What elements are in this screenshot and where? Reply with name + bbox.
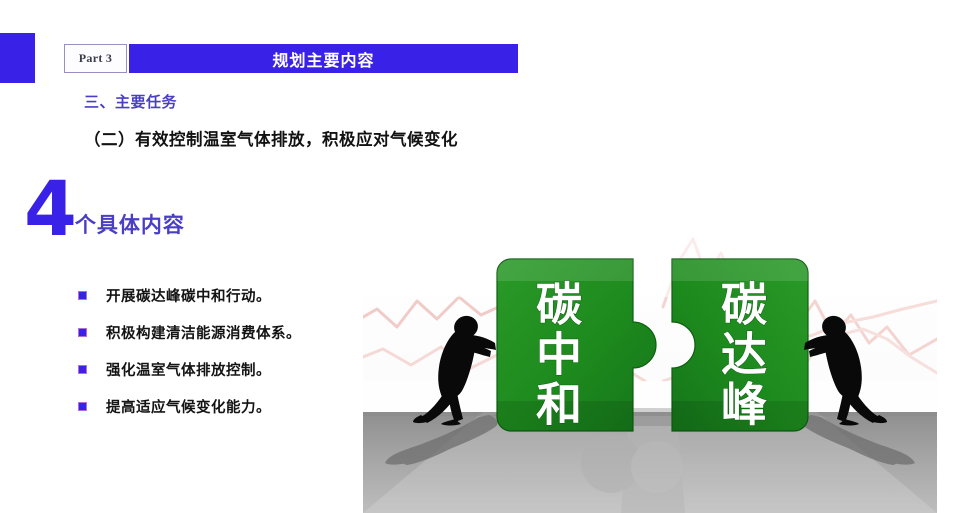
list-item-label: 提高适应气候变化能力。 bbox=[106, 396, 271, 417]
puzzle-piece-left: 碳 中 和 bbox=[497, 259, 656, 435]
puzzle-right-label-char3: 峰 bbox=[721, 377, 767, 431]
part-badge: Part 3 bbox=[64, 44, 127, 73]
puzzle-right-label-char2: 达 bbox=[721, 327, 767, 381]
bullet-square-icon bbox=[78, 291, 87, 300]
list-item: 提高适应气候变化能力。 bbox=[78, 388, 358, 425]
count-number: 4 bbox=[24, 176, 75, 243]
bullet-square-icon bbox=[78, 328, 87, 337]
accent-block bbox=[0, 33, 35, 83]
list-item-label: 开展碳达峰碳中和行动。 bbox=[106, 285, 271, 306]
puzzle-left-label-char3: 和 bbox=[536, 377, 582, 431]
page-title: 规划主要内容 bbox=[272, 47, 374, 71]
puzzle-illustration: 碳 中 和 碳 达 峰 bbox=[363, 231, 937, 513]
puzzle-left-label-char1: 碳 bbox=[536, 277, 583, 331]
section-heading: （二）有效控制温室气体排放，积极应对气候变化 bbox=[84, 126, 458, 150]
list-item: 积极构建清洁能源消费体系。 bbox=[78, 314, 358, 351]
puzzle-left-label-char2: 中 bbox=[536, 327, 582, 381]
bullet-square-icon bbox=[78, 402, 87, 411]
sub-heading: 三、主要任务 bbox=[84, 91, 177, 112]
title-bar: 规划主要内容 bbox=[129, 44, 518, 73]
list-item: 开展碳达峰碳中和行动。 bbox=[78, 277, 358, 314]
list-item-label: 积极构建清洁能源消费体系。 bbox=[106, 322, 301, 343]
count-label: 个具体内容 bbox=[75, 209, 185, 239]
bullet-list: 开展碳达峰碳中和行动。 积极构建清洁能源消费体系。 强化温室气体排放控制。 提高… bbox=[78, 277, 358, 425]
part-badge-label: Part 3 bbox=[79, 51, 112, 66]
puzzle-right-label-char1: 碳 bbox=[721, 277, 768, 331]
bullet-square-icon bbox=[78, 365, 87, 374]
list-item: 强化温室气体排放控制。 bbox=[78, 351, 358, 388]
floor bbox=[363, 412, 937, 513]
list-item-label: 强化温室气体排放控制。 bbox=[106, 359, 271, 380]
slide: Part 3 规划主要内容 三、主要任务 （二）有效控制温室气体排放，积极应对气… bbox=[0, 0, 960, 513]
count-block: 4 个具体内容 bbox=[24, 176, 185, 243]
